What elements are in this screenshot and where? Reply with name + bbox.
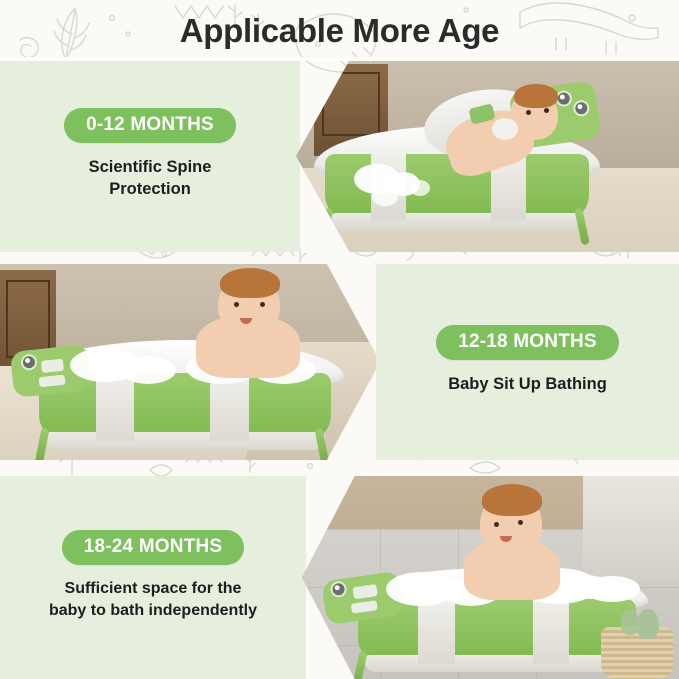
age-badge-18-24-months: 18-24 MONTHS bbox=[62, 530, 245, 565]
age-row-0-12-months: 0-12 MONTHS Scientific Spine Protection bbox=[0, 60, 679, 252]
age-badge-12-18-months: 12-18 MONTHS bbox=[436, 325, 619, 360]
baby-hair bbox=[514, 84, 558, 108]
age-badge-0-12-months: 0-12 MONTHS bbox=[64, 108, 236, 143]
furniture bbox=[583, 476, 679, 582]
baby-hair bbox=[482, 484, 542, 516]
age-row-18-24-months: 18-24 MONTHS Sufficient space for the ba… bbox=[0, 476, 679, 679]
age-description-12-18-months: Baby Sit Up Bathing bbox=[376, 373, 679, 395]
plant bbox=[637, 609, 659, 639]
row-divider-2 bbox=[0, 458, 679, 476]
plant bbox=[621, 609, 639, 635]
row-divider-1 bbox=[0, 250, 679, 266]
desc-line: Baby Sit Up Bathing bbox=[390, 373, 665, 395]
pacifier bbox=[492, 118, 518, 140]
age-row-12-18-months: 12-18 MONTHS Baby Sit Up Bathing bbox=[0, 264, 679, 460]
text-panel-12-18-months: 12-18 MONTHS Baby Sit Up Bathing bbox=[376, 264, 679, 460]
baby-hair bbox=[220, 268, 280, 298]
photo-12-18-months bbox=[0, 264, 380, 460]
text-panel-18-24-months: 18-24 MONTHS Sufficient space for the ba… bbox=[0, 476, 306, 679]
desc-line: Scientific Spine bbox=[14, 156, 286, 178]
desc-line: Protection bbox=[14, 178, 286, 200]
page-title: Applicable More Age bbox=[180, 14, 499, 47]
desc-line: baby to bath independently bbox=[14, 600, 292, 622]
age-description-0-12-months: Scientific Spine Protection bbox=[0, 156, 300, 201]
photo-scene bbox=[302, 476, 679, 679]
photo-scene bbox=[296, 60, 679, 252]
page-header: Applicable More Age bbox=[0, 0, 679, 60]
photo-0-12-months bbox=[296, 60, 679, 252]
photo-18-24-months bbox=[302, 476, 679, 679]
infographic-page: Applicable More Age 0-12 MONTHS Scientif… bbox=[0, 0, 679, 679]
wicker-basket bbox=[601, 627, 673, 679]
age-description-18-24-months: Sufficient space for the baby to bath in… bbox=[0, 578, 306, 621]
desc-line: Sufficient space for the bbox=[14, 578, 292, 600]
photo-scene bbox=[0, 264, 380, 460]
text-panel-0-12-months: 0-12 MONTHS Scientific Spine Protection bbox=[0, 60, 300, 252]
